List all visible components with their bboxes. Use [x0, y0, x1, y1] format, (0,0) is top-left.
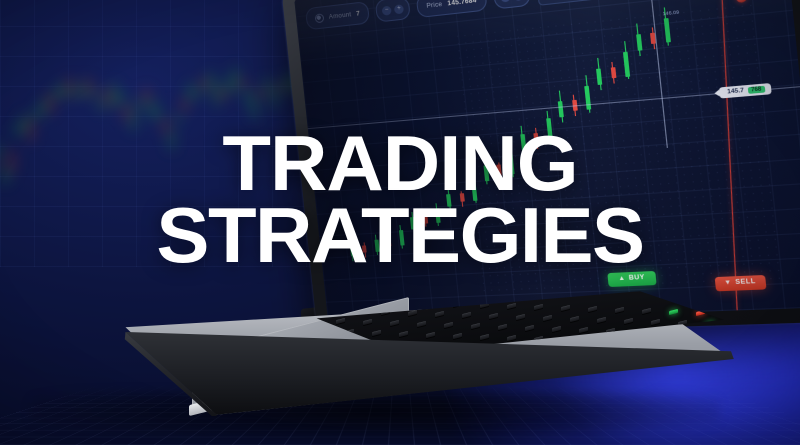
candlestick [509, 153, 516, 174]
keyboard-key[interactable] [426, 332, 435, 338]
candlestick [472, 182, 478, 200]
candlestick [459, 193, 464, 201]
laptop-device: Amount 7 − + Price 145.7684 − [0, 0, 800, 445]
candlestick-wick [473, 177, 477, 203]
keyboard-key[interactable] [669, 309, 678, 315]
keyboard-key[interactable] [480, 302, 489, 308]
candlestick-wick [447, 189, 450, 210]
keyboard-key[interactable] [417, 321, 426, 327]
candlestick-wick [636, 24, 641, 57]
keyboard-key[interactable] [561, 305, 570, 311]
keyboard-key[interactable] [399, 331, 408, 337]
keyboard-key[interactable] [723, 343, 724, 349]
candlestick-wick [375, 235, 378, 255]
arrow-down-icon: ▼ [724, 280, 732, 287]
keyboard-key[interactable] [507, 335, 516, 341]
sell-button[interactable]: ▼ SELL [714, 275, 766, 291]
keyboard-key[interactable] [363, 319, 372, 325]
candlestick-wick [612, 62, 615, 84]
keyboard-key[interactable] [462, 312, 471, 318]
keyboard-key[interactable] [624, 318, 633, 324]
amount-increment-button[interactable]: + [394, 4, 404, 14]
price-tag-chip: 768 [747, 86, 765, 94]
banner-image: Amount 7 − + Price 145.7684 − [0, 0, 800, 445]
laptop-base [52, 296, 752, 416]
currency-icon [315, 13, 325, 23]
keyboard-key[interactable] [408, 310, 417, 316]
candlestick-wick [535, 127, 538, 148]
candlestick-wick [498, 162, 501, 180]
candlestick [623, 52, 630, 77]
candlestick-wick [436, 203, 439, 226]
candlestick [374, 240, 379, 253]
time-increment-button[interactable]: + [513, 0, 524, 1]
candlestick [611, 67, 617, 78]
candlestick [410, 217, 415, 230]
candlestick [362, 245, 367, 253]
candlestick-wick [509, 145, 513, 176]
keyboard-key[interactable] [471, 323, 480, 329]
keyboard-key[interactable] [435, 311, 444, 317]
candlestick-wick [388, 236, 390, 249]
keyboard-key[interactable] [489, 313, 498, 319]
amount-value: 7 [356, 10, 360, 18]
candlestick-wick [484, 158, 488, 184]
keyboard-key[interactable] [651, 319, 660, 325]
candlestick [584, 85, 591, 109]
keyboard-key[interactable] [696, 310, 705, 316]
candlestick-wick [585, 75, 590, 112]
keyboard-key[interactable] [579, 327, 588, 333]
candlestick-wick [624, 41, 629, 79]
candlestick-wick [424, 214, 426, 227]
keyboard-key[interactable] [390, 320, 399, 326]
candlestick [546, 118, 553, 142]
candlestick-wick [364, 243, 367, 258]
keyboard-key[interactable] [534, 304, 543, 310]
candlestick-wick [400, 226, 403, 249]
candlestick [399, 231, 405, 246]
keyboard-key[interactable] [615, 307, 624, 313]
laptop-lid: Amount 7 − + Price 145.7684 − [281, 0, 800, 338]
laptop-screen: Amount 7 − + Price 145.7684 − [294, 0, 800, 325]
keyboard-key[interactable] [318, 296, 327, 302]
candlestick [663, 18, 670, 43]
keyboard-key[interactable] [588, 306, 597, 312]
candlestick [520, 134, 526, 153]
keyboard-key[interactable] [453, 301, 462, 307]
candlestick-wick [597, 58, 602, 90]
keyboard-key[interactable] [372, 330, 381, 336]
keyboard-key[interactable] [543, 315, 552, 321]
amount-stepper[interactable]: − + [375, 0, 411, 23]
price-value: 145.7684 [447, 0, 477, 7]
candlestick [435, 208, 441, 224]
keyboard-key[interactable] [714, 332, 723, 338]
keyboard-key[interactable] [426, 300, 435, 306]
candlestick [483, 165, 489, 181]
time-decrement-button[interactable]: − [500, 0, 511, 2]
keyboard-key[interactable] [552, 326, 561, 332]
keyboard-key[interactable] [705, 321, 714, 327]
keyboard-key[interactable] [327, 307, 336, 313]
candlestick-wick [351, 241, 354, 261]
candlestick [597, 68, 603, 84]
keyboard-key[interactable] [444, 322, 453, 328]
keyboard-key[interactable] [345, 297, 354, 303]
keyboard-key[interactable] [525, 325, 534, 331]
amount-label: Amount [328, 11, 351, 21]
keyboard-key[interactable] [516, 314, 525, 320]
sell-label: SELL [735, 279, 756, 286]
candlestick-wick [411, 212, 414, 232]
keyboard-key[interactable] [642, 308, 651, 314]
candlestick-wick [547, 110, 552, 144]
buy-label: BUY [629, 275, 646, 282]
trading-app: Amount 7 − + Price 145.7684 − [294, 0, 800, 325]
candlestick-wick [461, 191, 464, 207]
candlestick [558, 101, 564, 117]
candlestick [350, 246, 355, 256]
keyboard-key[interactable] [336, 318, 345, 324]
candlestick [636, 34, 642, 51]
keyboard-key[interactable] [498, 324, 507, 330]
keyboard-key[interactable] [570, 316, 579, 322]
candlestick-chart [324, 0, 698, 271]
candlestick [446, 194, 452, 207]
keyboard-key[interactable] [453, 333, 462, 339]
candlestick [496, 164, 501, 175]
amount-decrement-button[interactable]: − [382, 5, 392, 15]
candlestick [534, 133, 539, 144]
amount-field[interactable]: Amount 7 [305, 1, 370, 30]
price-tag-value: 145.7 [727, 88, 744, 96]
keyboard-key[interactable] [480, 334, 489, 340]
keyboard-key[interactable] [597, 317, 606, 323]
price-label: Price [426, 0, 443, 9]
candlestick-wick [521, 126, 525, 155]
candlestick [423, 216, 428, 224]
keyboard-key[interactable] [507, 303, 516, 309]
time-stepper[interactable]: − + [492, 0, 530, 10]
candlestick [387, 239, 392, 247]
arrow-up-icon: ▲ [618, 276, 626, 283]
buy-button[interactable]: ▲ BUY [607, 271, 656, 287]
